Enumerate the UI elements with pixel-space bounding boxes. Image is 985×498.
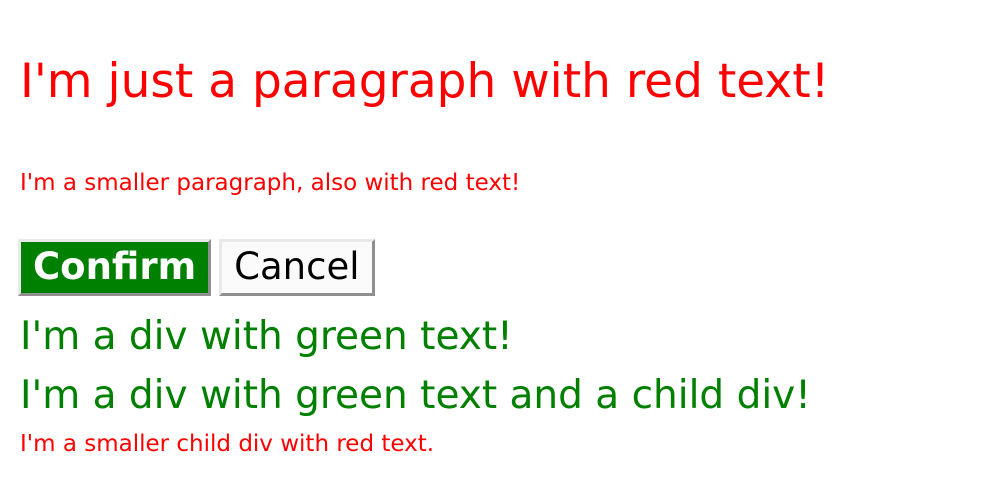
button-row: Confirm Cancel bbox=[18, 239, 375, 296]
paragraph-small-red: I'm a smaller paragraph, also with red t… bbox=[20, 171, 520, 196]
div-green-text: I'm a div with green text! bbox=[20, 315, 513, 359]
div-child-red: I'm a smaller child div with red text. bbox=[20, 432, 434, 458]
paragraph-large-red: I'm just a paragraph with red text! bbox=[20, 56, 829, 108]
confirm-button[interactable]: Confirm bbox=[18, 239, 211, 296]
cancel-button[interactable]: Cancel bbox=[219, 239, 374, 296]
div-green-parent: I'm a div with green text and a child di… bbox=[20, 374, 811, 418]
